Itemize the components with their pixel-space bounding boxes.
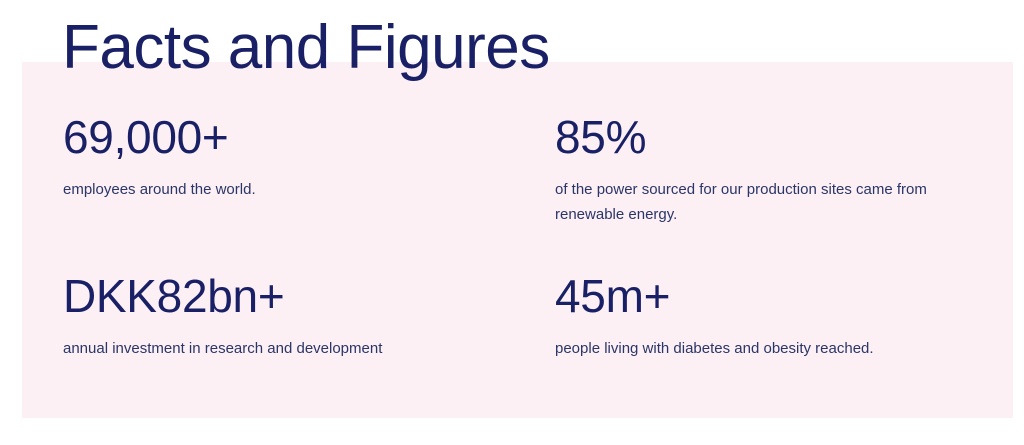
facts-and-figures-section: Facts and Figures 69,000+ employees arou… <box>0 0 1024 445</box>
stat-item-employees: 69,000+ employees around the world. <box>63 112 533 202</box>
stat-item-people-reached: 45m+ people living with diabetes and obe… <box>555 271 955 361</box>
page-title: Facts and Figures <box>62 14 550 82</box>
stat-item-rd-investment: DKK82bn+ annual investment in research a… <box>63 271 533 361</box>
stat-caption: people living with diabetes and obesity … <box>555 336 955 362</box>
stat-value: 85% <box>555 112 955 164</box>
stat-caption: employees around the world. <box>63 177 533 203</box>
stat-value: 45m+ <box>555 271 955 323</box>
stat-caption: of the power sourced for our production … <box>555 177 955 229</box>
stat-value: DKK82bn+ <box>63 271 533 323</box>
stat-caption: annual investment in research and develo… <box>63 336 533 362</box>
stat-value: 69,000+ <box>63 112 533 164</box>
stat-item-renewable-power: 85% of the power sourced for our product… <box>555 112 955 228</box>
